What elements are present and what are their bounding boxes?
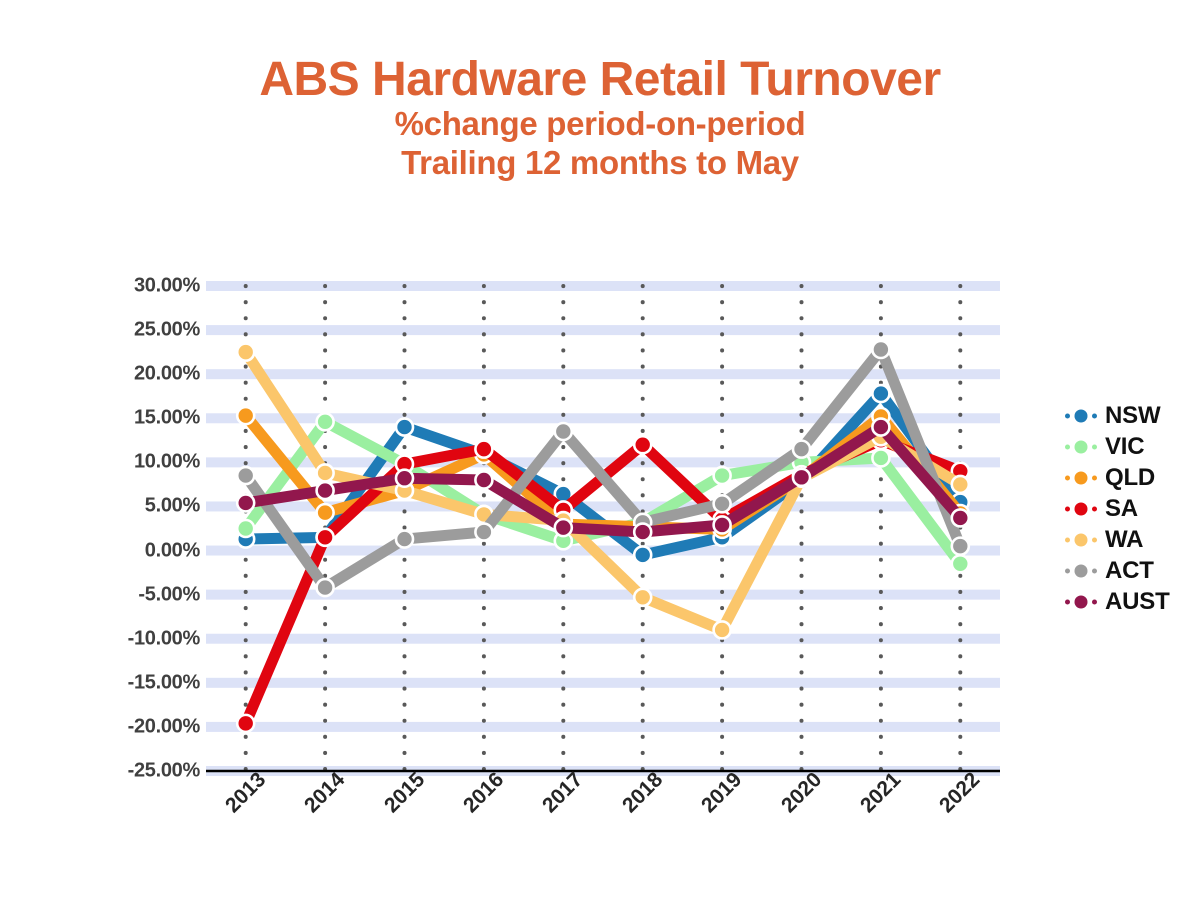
legend-swatch-icon [1064,531,1098,549]
data-point [872,385,889,402]
data-point [317,529,334,546]
data-point [396,470,413,487]
y-axis: 30.00%25.00%20.00%15.00%10.00%5.00%0.00%… [96,286,200,771]
y-tick-label: 20.00% [134,363,200,386]
x-tick-label: 2016 [459,768,509,818]
data-point [793,441,810,458]
x-tick-label: 2018 [618,768,668,818]
data-point [317,579,334,596]
data-point [237,494,254,511]
chart-container: ABS Hardware Retail Turnover %change per… [0,0,1200,900]
legend-swatch-icon [1064,593,1098,611]
plot-area [206,286,1000,771]
data-point [317,482,334,499]
legend-label: SA [1105,495,1138,523]
data-point [714,621,731,638]
data-point [634,546,651,563]
legend-swatch-icon [1064,562,1098,580]
y-tick-label: 10.00% [134,451,200,474]
x-tick-label: 2013 [221,768,271,818]
data-point [237,467,254,484]
data-point [872,419,889,436]
y-tick-label: -15.00% [128,671,200,694]
data-point [475,524,492,541]
legend-swatch-icon [1064,438,1098,456]
y-tick-label: 15.00% [134,407,200,430]
data-point [714,467,731,484]
y-tick-label: -10.00% [128,627,200,650]
y-tick-label: -25.00% [128,760,200,783]
x-tick-label: 2017 [538,768,588,818]
x-axis: 2013201420152016201720182019202020212022 [206,775,1000,865]
data-point [317,413,334,430]
legend-label: AUST [1105,588,1170,616]
data-point [714,516,731,533]
data-point [952,538,969,555]
legend-label: QLD [1105,464,1155,492]
page-title: ABS Hardware Retail Turnover [0,55,1200,105]
data-point [952,509,969,526]
data-point [555,423,572,440]
gridline-band [206,369,1000,379]
data-point [872,341,889,358]
y-tick-label: 25.00% [134,319,200,342]
title-block: ABS Hardware Retail Turnover %change per… [0,55,1200,183]
y-tick-label: -5.00% [138,583,200,606]
data-point [793,469,810,486]
legend-item-nsw[interactable]: NSW [1064,400,1194,431]
gridline-band [206,678,1000,688]
data-point [634,589,651,606]
page-subtitle-2: Trailing 12 months to May [0,144,1200,183]
data-point [317,464,334,481]
data-point [634,436,651,453]
plot-svg [206,286,1000,771]
data-point [237,407,254,424]
data-point [396,531,413,548]
y-tick-label: -20.00% [128,715,200,738]
legend-label: NSW [1105,402,1160,430]
data-point [396,419,413,436]
chart-legend: NSWVICQLDSAWAACTAUST [1064,400,1194,617]
x-tick-label: 2020 [776,768,826,818]
data-point [555,519,572,536]
data-point [475,441,492,458]
y-tick-label: 0.00% [145,539,200,562]
legend-item-act[interactable]: ACT [1064,555,1194,586]
y-tick-label: 30.00% [134,275,200,298]
y-tick-label: 5.00% [145,495,200,518]
data-point [714,495,731,512]
data-point [872,449,889,466]
gridline-band [206,722,1000,732]
x-tick-label: 2019 [697,768,747,818]
legend-item-wa[interactable]: WA [1064,524,1194,555]
legend-label: VIC [1105,433,1144,461]
data-point [237,520,254,537]
x-tick-label: 2015 [379,768,429,818]
data-point [237,344,254,361]
legend-label: WA [1105,526,1143,554]
legend-swatch-icon [1064,500,1098,518]
legend-label: ACT [1105,557,1154,585]
legend-item-sa[interactable]: SA [1064,493,1194,524]
x-tick-label: 2014 [300,768,350,818]
x-tick-label: 2022 [935,768,985,818]
data-point [952,555,969,572]
x-tick-label: 2021 [856,768,906,818]
legend-swatch-icon [1064,469,1098,487]
data-point [317,504,334,521]
legend-item-qld[interactable]: QLD [1064,462,1194,493]
legend-swatch-icon [1064,407,1098,425]
data-point [237,715,254,732]
data-point [475,472,492,489]
data-point [634,524,651,541]
page-subtitle-1: %change period-on-period [0,105,1200,144]
data-point [952,476,969,493]
legend-item-aust[interactable]: AUST [1064,586,1194,617]
legend-item-vic[interactable]: VIC [1064,431,1194,462]
